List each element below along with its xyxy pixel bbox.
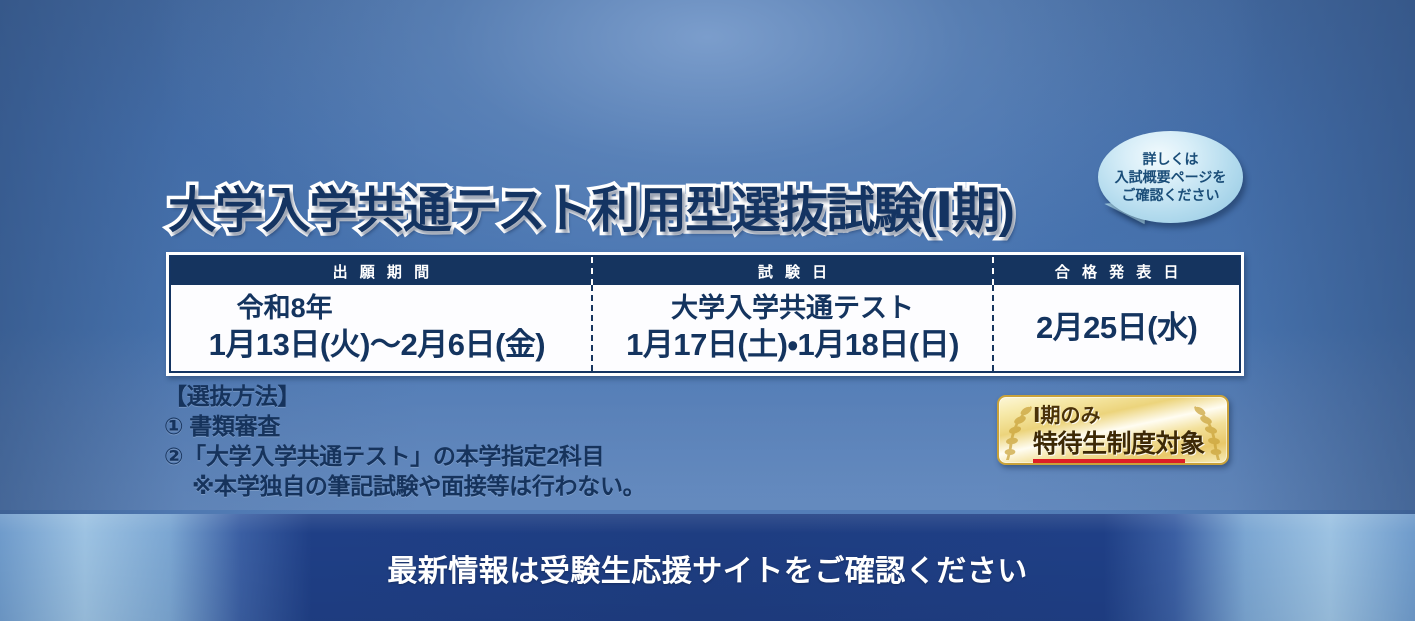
table-cell-application-period: 令和8年 1月13日(火)〜2月6日(金) — [171, 285, 591, 371]
bubble-line-3: ご確認ください — [1122, 186, 1220, 204]
badge-line-2: 特待生制度対象 — [1033, 429, 1197, 460]
bottom-bar-message: 最新情報は受験生応援サイトをご確認ください — [387, 546, 1028, 590]
table-header-result-date: 合 格 発 表 日 — [992, 257, 1239, 285]
scholarship-badge[interactable]: Ⅰ期のみ 特待生制度対象 — [997, 395, 1229, 465]
application-period-lines: 令和8年 1月13日(火)〜2月6日(金) — [209, 293, 554, 363]
selection-method-item-2: ②「大学入学共通テスト」の本学指定2科目 — [164, 441, 645, 471]
exam-name: 大学入学共通テスト — [626, 293, 959, 325]
table-header-row: 出 願 期 間 試 験 日 合 格 発 表 日 — [171, 257, 1239, 285]
exam-dates: 1月17日(土)・1月18日(日) — [626, 327, 959, 364]
badge-line-1: Ⅰ期のみ — [1033, 403, 1197, 429]
application-period-year: 令和8年 — [209, 293, 546, 325]
badge-red-underline — [1033, 459, 1185, 465]
result-date-value: 2月25日(水) — [1036, 310, 1197, 347]
main-title-wrapper: 大学入学共通テスト利用型選抜試験(Ⅰ期) — [168, 180, 1158, 246]
page-title: 大学入学共通テスト利用型選抜試験(Ⅰ期) — [168, 180, 1148, 242]
selection-method-note: ※本学独自の筆記試験や面接等は行わない。 — [164, 471, 645, 501]
admissions-banner: 大学入学共通テスト利用型選抜試験(Ⅰ期) 詳しくは 入試概要ページを ご確認くだ… — [0, 0, 1415, 621]
table-header-exam-date: 試 験 日 — [591, 257, 993, 285]
exam-date-lines: 大学入学共通テスト 1月17日(土)・1月18日(日) — [626, 293, 959, 363]
table-cell-exam-date: 大学入学共通テスト 1月17日(土)・1月18日(日) — [591, 285, 993, 371]
schedule-table: 出 願 期 間 試 験 日 合 格 発 表 日 令和8年 1月13日(火)〜2月… — [166, 252, 1244, 376]
speech-bubble[interactable]: 詳しくは 入試概要ページを ご確認ください — [1098, 131, 1243, 223]
speech-bubble-text: 詳しくは 入試概要ページを ご確認ください — [1098, 131, 1243, 223]
schedule-table-inner: 出 願 期 間 試 験 日 合 格 発 表 日 令和8年 1月13日(火)〜2月… — [169, 255, 1241, 373]
table-row: 令和8年 1月13日(火)〜2月6日(金) 大学入学共通テスト 1月17日(土)… — [171, 285, 1239, 371]
laurel-left-icon — [1001, 402, 1035, 462]
table-cell-result-date: 2月25日(水) — [992, 285, 1239, 371]
selection-method-heading: 【選抜方法】 — [164, 381, 645, 411]
bottom-bar: 最新情報は受験生応援サイトをご確認ください — [0, 514, 1415, 621]
scholarship-badge-text: Ⅰ期のみ 特待生制度対象 — [1033, 403, 1197, 460]
application-period-range: 1月13日(火)〜2月6日(金) — [209, 327, 546, 364]
selection-method-block: 【選抜方法】 ① 書類審査 ②「大学入学共通テスト」の本学指定2科目 ※本学独自… — [164, 381, 645, 501]
bubble-line-2: 入試概要ページを — [1115, 168, 1227, 186]
selection-method-item-1: ① 書類審査 — [164, 411, 645, 441]
bubble-line-1: 詳しくは — [1143, 150, 1199, 168]
table-header-application-period: 出 願 期 間 — [171, 257, 591, 285]
